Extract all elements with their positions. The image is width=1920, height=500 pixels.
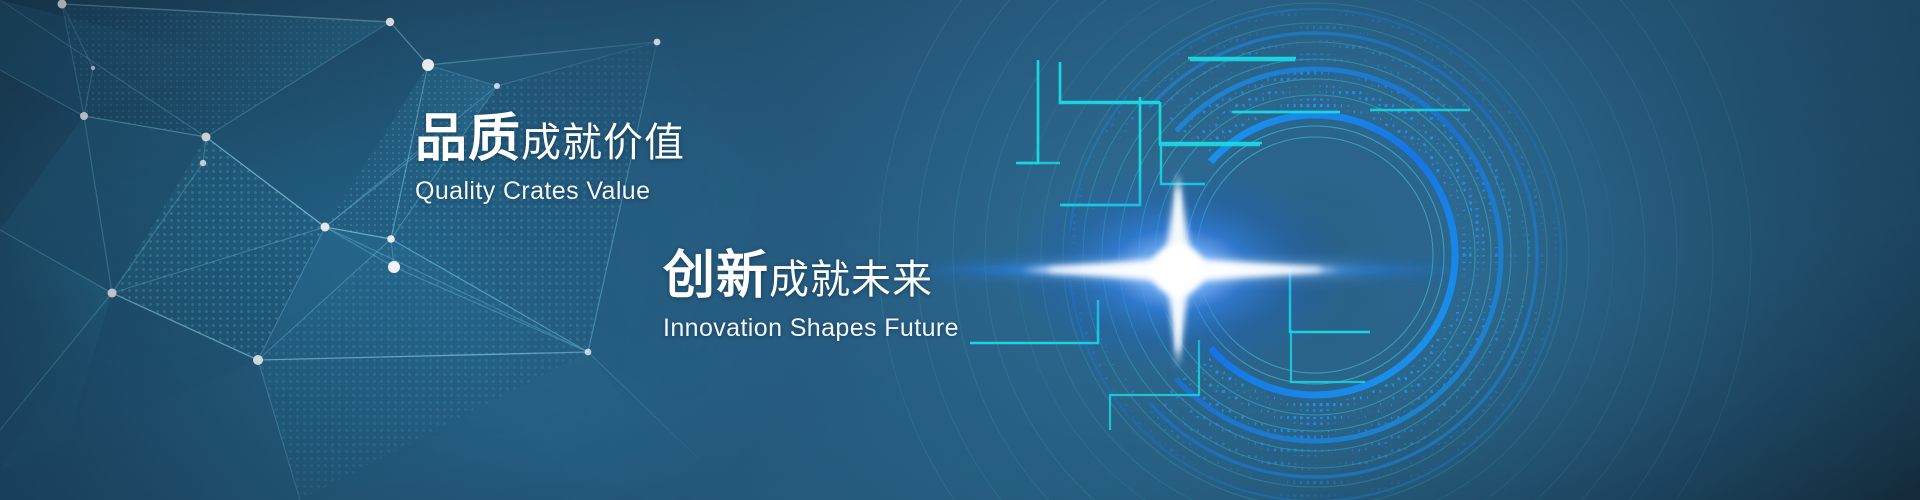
bracket-lower-right xyxy=(1291,330,1365,382)
cyan-circuit-brackets xyxy=(0,0,1920,500)
bracket-line-5 xyxy=(1060,98,1139,205)
dotted-ring-arc xyxy=(1073,13,1557,497)
slogan-cn-strong: 创新 xyxy=(663,247,769,305)
bracket-line-8 xyxy=(1161,146,1205,184)
outer-sweep-ring xyxy=(879,0,1751,500)
bright-ring-arc xyxy=(1069,9,1561,500)
background-gradient xyxy=(0,0,1920,500)
bracket-line-7 xyxy=(1160,145,1200,182)
polygon-network-mesh xyxy=(0,0,1920,500)
slogan-english-quality: Quality Crates Value xyxy=(415,177,685,206)
bracket-line-6 xyxy=(1160,102,1260,145)
thin-ring xyxy=(1017,0,1613,500)
slogan-cn-light: 成就价值 xyxy=(521,121,685,165)
slogan-chinese-innovation: 创新成就未来 xyxy=(663,250,959,302)
slogan-chinese-quality: 品质成就价值 xyxy=(415,113,685,165)
slogan-block-quality: 品质成就价值 Quality Crates Value xyxy=(415,113,685,206)
bracket-hook-top xyxy=(1139,98,1168,203)
ring-core-disk xyxy=(1165,105,1465,405)
bracket-line-4 xyxy=(1140,100,1163,195)
hero-banner: 品质成就价值 Quality Crates Value 创新成就未来 Innov… xyxy=(0,0,1920,500)
mesh-facets xyxy=(0,0,760,500)
slogan-cn-strong: 品质 xyxy=(415,110,521,168)
halftone-fields xyxy=(62,4,657,500)
slogan-cn-light: 成就未来 xyxy=(769,258,933,302)
cyan-circuit-brackets-detail xyxy=(0,0,1920,500)
vignette-overlay xyxy=(0,0,1920,500)
bracket-bottom-step xyxy=(1235,430,1330,468)
bracket-line-2 xyxy=(1060,64,1160,103)
bracket-lower-left xyxy=(1110,340,1199,430)
slogan-block-innovation: 创新成就未来 Innovation Shapes Future xyxy=(663,250,959,343)
star-burst-flare xyxy=(0,0,1920,500)
slogan-english-innovation: Innovation Shapes Future xyxy=(663,314,959,343)
mesh-edges xyxy=(0,0,700,500)
bracket-bottom xyxy=(1090,412,1185,480)
concentric-tech-ring xyxy=(0,0,1920,500)
